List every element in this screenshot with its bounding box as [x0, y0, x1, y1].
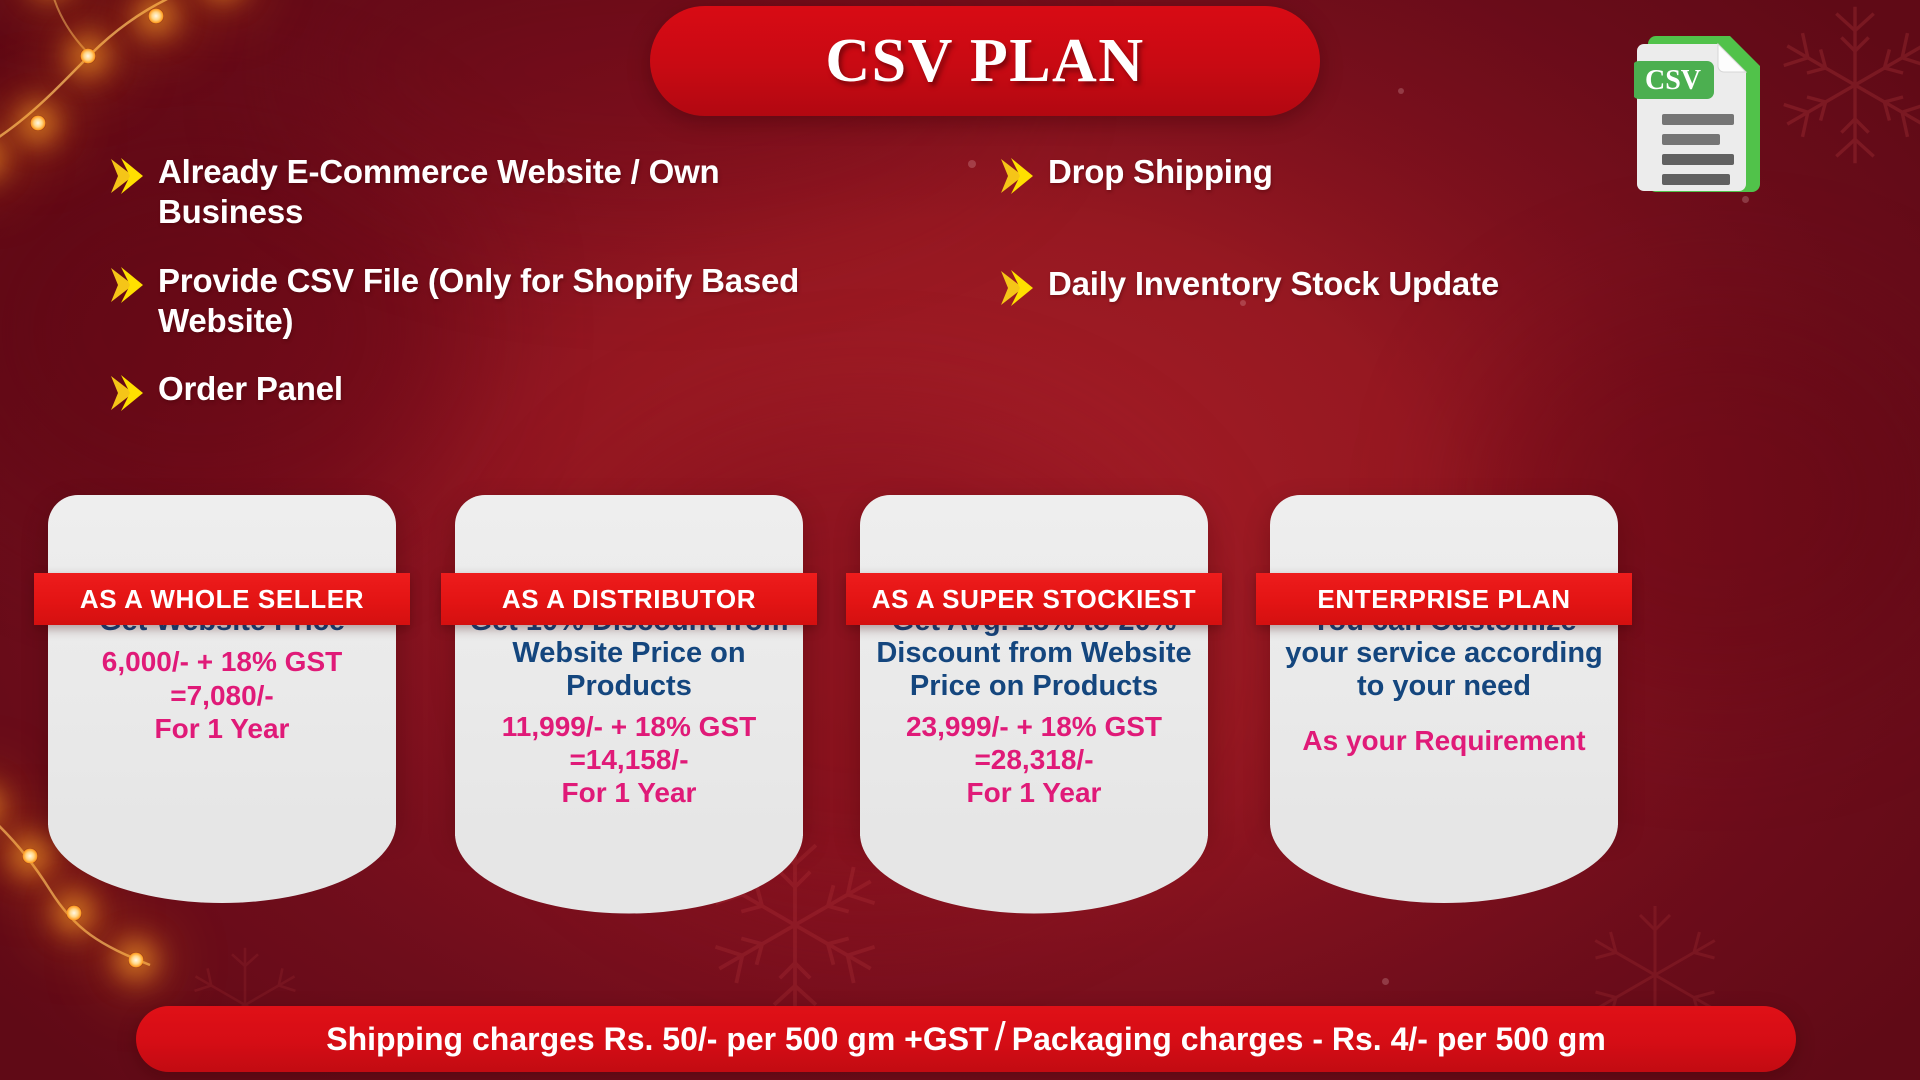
chevron-right-icon [108, 373, 144, 413]
plan-price: 6,000/- + 18% GST =7,080/- For 1 Year [48, 645, 396, 744]
feature-item: Provide CSV File (Only for Shopify Based… [108, 261, 828, 342]
dust-dot [1382, 978, 1389, 985]
csv-badge-label: CSV [1645, 65, 1701, 96]
footer-separator: / [989, 1015, 1012, 1060]
plan-ribbon-label: AS A WHOLE SELLER [80, 584, 364, 615]
chevron-right-icon [108, 265, 144, 305]
feature-column-right: Drop Shipping Daily Inventory Stock Upda… [998, 152, 1698, 336]
plan-card-body: AS A WHOLE SELLER Get Website Price 6,00… [48, 495, 396, 825]
chevron-right-icon [108, 156, 144, 196]
dust-dot [1742, 196, 1749, 203]
feature-item: Daily Inventory Stock Update [998, 264, 1698, 308]
footer-banner: Shipping charges Rs. 50/- per 500 gm +GS… [136, 1006, 1796, 1072]
snowflake-icon [1770, 0, 1920, 180]
feature-label: Provide CSV File (Only for Shopify Based… [158, 261, 828, 342]
chevron-right-icon [998, 156, 1034, 196]
plan-card-super-stockiest[interactable]: AS A SUPER STOCKIEST Get Avg. 18% to 20%… [860, 495, 1208, 836]
page-title: CSV PLAN [825, 26, 1144, 97]
feature-label: Drop Shipping [1048, 152, 1273, 192]
plan-card-body: AS A SUPER STOCKIEST Get Avg. 18% to 20%… [860, 495, 1208, 836]
packaging-charges-label: Packaging charges - Rs. 4/- per 500 gm [1012, 1021, 1606, 1058]
plan-card-whole-seller[interactable]: AS A WHOLE SELLER Get Website Price 6,00… [48, 495, 396, 825]
plan-card-enterprise[interactable]: ENTERPRISE PLAN You can Customize your s… [1270, 495, 1618, 825]
plan-price: 11,999/- + 18% GST =14,158/- For 1 Year [455, 710, 803, 809]
dust-dot [968, 160, 976, 168]
plan-ribbon: AS A SUPER STOCKIEST [846, 573, 1222, 625]
plan-ribbon-label: ENTERPRISE PLAN [1317, 584, 1570, 615]
plan-ribbon: AS A DISTRIBUTOR [441, 573, 817, 625]
plan-ribbon: ENTERPRISE PLAN [1256, 573, 1632, 625]
feature-label: Order Panel [158, 369, 343, 409]
feature-label: Daily Inventory Stock Update [1048, 264, 1499, 304]
feature-item: Drop Shipping [998, 152, 1698, 196]
title-banner: CSV PLAN [650, 6, 1320, 116]
feature-item: Order Panel [108, 369, 828, 413]
feature-item: Already E-Commerce Website / Own Busines… [108, 152, 828, 233]
plan-cards: AS A WHOLE SELLER Get Website Price 6,00… [0, 495, 1920, 935]
plan-price: 23,999/- + 18% GST =28,318/- For 1 Year [860, 710, 1208, 809]
dust-dot [1398, 88, 1404, 94]
feature-label: Already E-Commerce Website / Own Busines… [158, 152, 828, 233]
plan-price: As your Requirement [1270, 724, 1618, 757]
plan-card-distributor[interactable]: AS A DISTRIBUTOR Get 10% Discount from W… [455, 495, 803, 836]
shipping-charges-label: Shipping charges Rs. 50/- per 500 gm +GS… [326, 1021, 988, 1058]
plan-card-body: ENTERPRISE PLAN You can Customize your s… [1270, 495, 1618, 825]
plan-ribbon-label: AS A SUPER STOCKIEST [872, 584, 1197, 615]
plan-ribbon: AS A WHOLE SELLER [34, 573, 410, 625]
chevron-right-icon [998, 268, 1034, 308]
plan-ribbon-label: AS A DISTRIBUTOR [502, 584, 756, 615]
feature-column-left: Already E-Commerce Website / Own Busines… [108, 152, 828, 441]
plan-card-body: AS A DISTRIBUTOR Get 10% Discount from W… [455, 495, 803, 836]
